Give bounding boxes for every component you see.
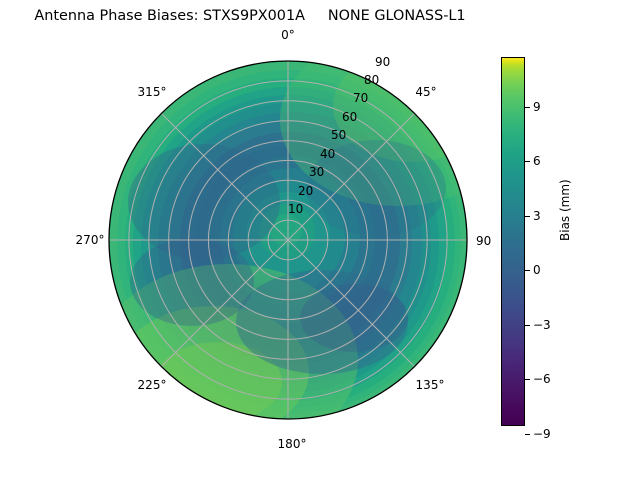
colorbar-axis-label: Bias (mm) (558, 179, 572, 241)
angle-label-270: 270° (64, 233, 116, 247)
colorbar-ticklabel-3: 3 (533, 209, 541, 223)
polar-contour-plot (108, 60, 468, 420)
angle-label-135: 135° (404, 378, 456, 392)
colorbar: 9 6 3 0 −3 −6 −9 (501, 57, 525, 426)
angle-label-180: 180° (266, 437, 318, 451)
colorbar-ticklabel-0: 0 (533, 263, 541, 277)
angle-label-45: 45° (404, 85, 448, 99)
colorbar-tick-neg6 (525, 379, 530, 380)
angle-label-225: 225° (126, 378, 178, 392)
colorbar-ticklabel-neg9: −9 (533, 427, 551, 441)
colorbar-ticklabel-6: 6 (533, 154, 541, 168)
colorbar-ticklabel-neg3: −3 (533, 318, 551, 332)
radial-tick-70: 70 (353, 91, 368, 105)
colorbar-tick-9 (525, 107, 530, 108)
angle-label-315: 315° (126, 85, 178, 99)
colorbar-tick-neg9 (525, 434, 530, 435)
radial-tick-30: 30 (309, 165, 324, 179)
radial-tick-60: 60 (342, 110, 357, 124)
figure-canvas: Antenna Phase Biases: STXS9PX001A NONE G… (0, 0, 640, 480)
radial-tick-20: 20 (298, 184, 313, 198)
colorbar-tick-neg3 (525, 325, 530, 326)
polar-axes: 10 20 30 40 50 60 70 80 90 (108, 60, 468, 420)
colorbar-tick-3 (525, 216, 530, 217)
page-title: Antenna Phase Biases: STXS9PX001A NONE G… (0, 8, 500, 24)
radial-tick-50: 50 (331, 128, 346, 142)
radial-tick-80: 80 (364, 73, 379, 87)
angular-gridlines (109, 61, 467, 419)
colorbar-gradient (501, 57, 525, 426)
colorbar-tick-0 (525, 270, 530, 271)
angle-label-0: 0° (266, 28, 310, 42)
radial-tick-10: 10 (288, 202, 303, 216)
colorbar-ticklabel-9: 9 (533, 100, 541, 114)
radial-tick-90: 90 (375, 55, 390, 69)
colorbar-tick-6 (525, 161, 530, 162)
radial-tick-40: 40 (320, 147, 335, 161)
colorbar-ticklabel-neg6: −6 (533, 372, 551, 386)
angle-label-90: 90 (474, 233, 493, 249)
